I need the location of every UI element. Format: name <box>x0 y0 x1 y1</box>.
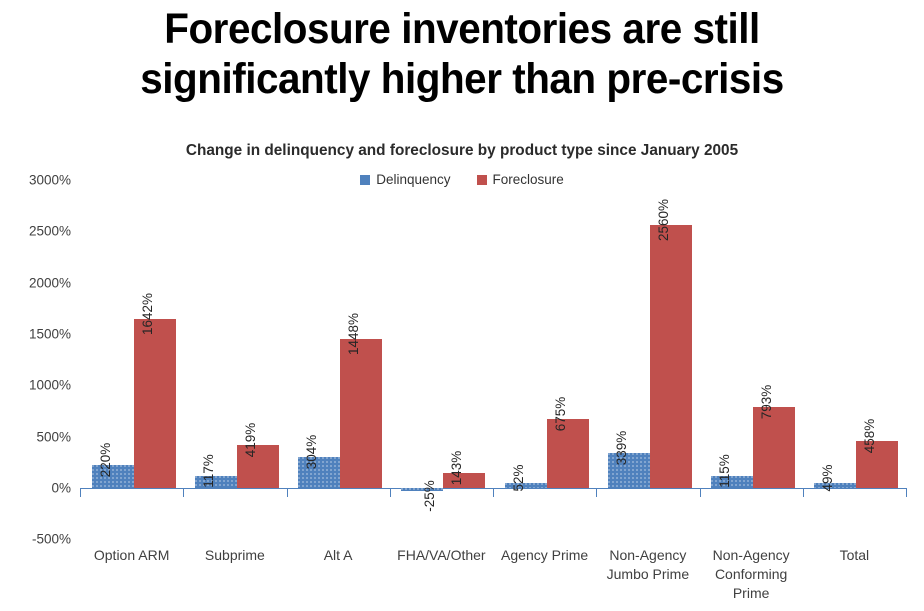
bar-delinquency[interactable]: 117% <box>195 476 237 488</box>
x-axis-tick <box>700 488 701 497</box>
x-axis-category-label: Non-Agency Jumbo Prime <box>590 546 705 584</box>
bar-foreclosure[interactable]: 419% <box>237 445 279 488</box>
bar-delinquency[interactable]: 304% <box>298 457 340 488</box>
x-axis-tick <box>596 488 597 497</box>
bar-foreclosure[interactable]: 2560% <box>650 225 692 488</box>
bar-group: -25%143% <box>401 180 485 540</box>
slide-canvas: Foreclosure inventories are still signif… <box>0 0 924 611</box>
bar-foreclosure[interactable]: 1448% <box>340 339 382 488</box>
x-axis-tick <box>390 488 391 497</box>
x-axis-tick <box>80 488 81 497</box>
x-axis-category-label: Option ARM <box>74 546 189 565</box>
bar-value-label: 304% <box>304 435 319 470</box>
y-axis-tick-label: 3000% <box>29 173 71 188</box>
bar-value-label: 675% <box>553 396 568 431</box>
slide-headline: Foreclosure inventories are still signif… <box>28 4 897 104</box>
x-axis-tick <box>803 488 804 497</box>
bar-group: 115%793% <box>711 180 795 540</box>
bar-group: 52%675% <box>505 180 589 540</box>
x-axis-tick <box>287 488 288 497</box>
bar-value-label: 419% <box>243 423 258 458</box>
x-axis-category-label: FHA/VA/Other <box>384 546 499 565</box>
bar-foreclosure[interactable]: 1642% <box>134 319 176 488</box>
bar-value-label: 115% <box>717 454 732 488</box>
x-axis-category-label: Alt A <box>281 546 396 565</box>
bar-delinquency[interactable]: 220% <box>92 465 134 488</box>
bar-delinquency[interactable]: 115% <box>711 476 753 488</box>
x-axis-tick <box>493 488 494 497</box>
bar-group: 339%2560% <box>608 180 692 540</box>
bar-value-label: 1448% <box>346 313 361 355</box>
bar-delinquency[interactable]: -25% <box>401 488 443 491</box>
x-axis-category-label: Subprime <box>177 546 292 565</box>
x-axis-category-label: Total <box>797 546 912 565</box>
bar-value-label: 143% <box>449 451 464 486</box>
bar-value-label: -25% <box>422 480 437 512</box>
chart-plot-area: 3000%2500%2000%1500%1000%500%0%-500%220%… <box>80 180 906 540</box>
bar-delinquency[interactable]: 49% <box>814 483 856 488</box>
x-axis-category-label: Non-Agency Conforming Prime <box>694 546 809 603</box>
y-axis-tick-label: 1500% <box>29 327 71 342</box>
y-axis-tick-label: -500% <box>32 532 71 547</box>
bar-value-label: 117% <box>201 454 216 488</box>
bar-value-label: 793% <box>759 384 774 419</box>
bar-group: 220%1642% <box>92 180 176 540</box>
bar-foreclosure[interactable]: 675% <box>547 419 589 488</box>
x-axis-category-label: Agency Prime <box>487 546 602 565</box>
bar-value-label: 2560% <box>656 199 671 241</box>
bar-foreclosure[interactable]: 143% <box>443 473 485 488</box>
x-axis-tick <box>183 488 184 497</box>
bar-group: 49%458% <box>814 180 898 540</box>
chart-title: Change in delinquency and foreclosure by… <box>18 142 905 160</box>
y-axis-tick-label: 500% <box>36 429 71 444</box>
y-axis-tick-label: 2500% <box>29 224 71 239</box>
bar-group: 304%1448% <box>298 180 382 540</box>
bar-value-label: 220% <box>98 443 113 478</box>
bar-foreclosure[interactable]: 458% <box>856 441 898 488</box>
bar-group: 117%419% <box>195 180 279 540</box>
y-axis-tick-label: 1000% <box>29 378 71 393</box>
x-axis-tick <box>906 488 907 497</box>
bar-value-label: 458% <box>862 419 877 454</box>
bar-value-label: 1642% <box>140 293 155 335</box>
y-axis-tick-label: 0% <box>51 481 71 496</box>
bar-delinquency[interactable]: 52% <box>505 483 547 488</box>
bar-value-label: 52% <box>511 464 526 491</box>
bar-foreclosure[interactable]: 793% <box>753 407 795 488</box>
bar-value-label: 339% <box>614 431 629 466</box>
y-axis-tick-label: 2000% <box>29 275 71 290</box>
bar-value-label: 49% <box>820 464 835 491</box>
bar-delinquency[interactable]: 339% <box>608 453 650 488</box>
